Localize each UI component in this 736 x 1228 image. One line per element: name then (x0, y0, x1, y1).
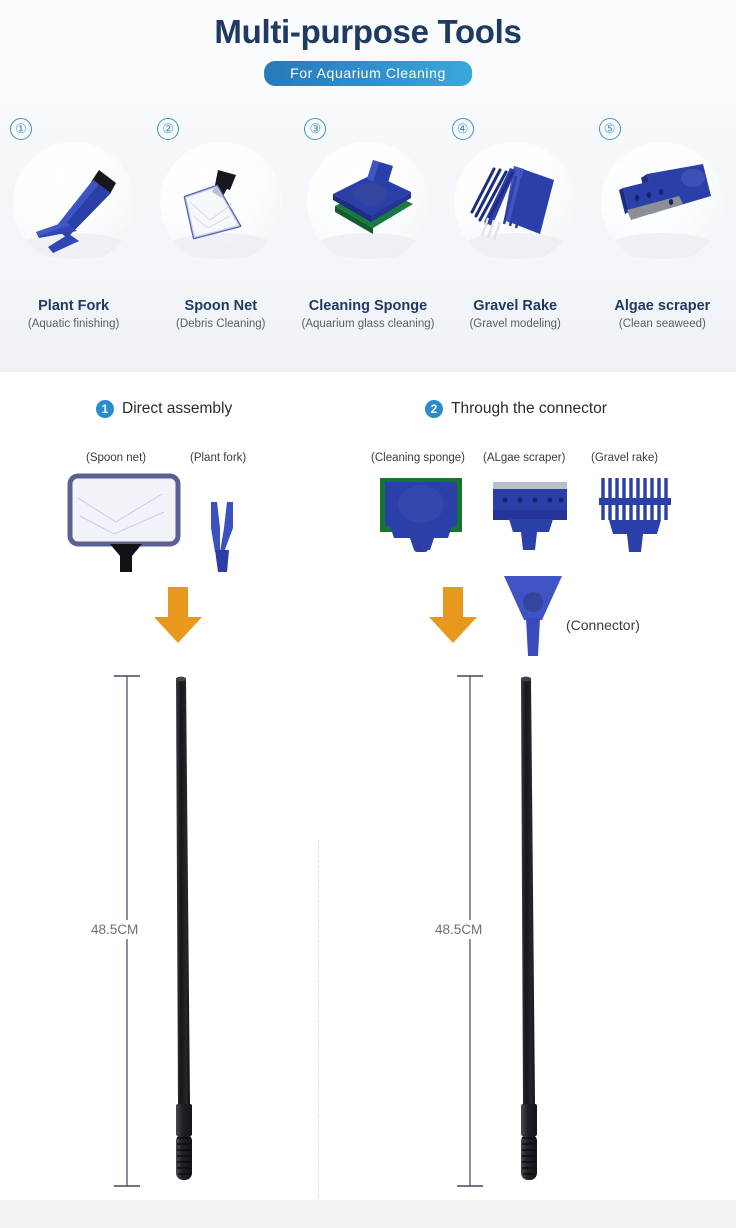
tool-name-plant-fork: Plant Fork (0, 298, 147, 314)
tool-sub-plant-fork: (Aquatic finishing) (0, 318, 147, 330)
product-infographic: Multi-purpose Tools For Aquarium Cleanin… (0, 0, 736, 1228)
part-art-connector (500, 572, 566, 660)
rod-left (170, 674, 196, 1186)
tool-grid: ① Plant Fork (Aquatic finishing) (0, 118, 736, 348)
tool-name-gravel-rake: Gravel Rake (442, 298, 589, 314)
arrow-down-right (427, 587, 479, 643)
part-label-algae-scraper: (ALgae scraper) (483, 452, 565, 464)
section-badge-2: 2 (425, 400, 443, 418)
section-heading-direct-assembly: 1 Direct assembly (96, 400, 232, 418)
section-heading-through-connector: 2 Through the connector (425, 400, 607, 418)
page-title: Multi-purpose Tools (0, 13, 736, 51)
section-title-1: Direct assembly (122, 400, 232, 418)
section-divider (318, 840, 319, 1228)
header-section: Multi-purpose Tools For Aquarium Cleanin… (0, 0, 736, 372)
tool-name-cleaning-sponge: Cleaning Sponge (294, 298, 441, 314)
part-art-algae-scraper-head (491, 480, 569, 554)
tool-photo-gravel-rake (454, 142, 576, 264)
connector-label: (Connector) (566, 617, 640, 633)
arrow-down-left (152, 587, 204, 643)
rod-right (515, 674, 541, 1186)
tool-card-spoon-net: ② S (147, 118, 294, 348)
tool-card-algae-scraper: ⑤ (589, 118, 736, 348)
dimension-label-right: 48.5CM (432, 920, 485, 939)
section-badge-1: 1 (96, 400, 114, 418)
part-label-plant-fork: (Plant fork) (190, 452, 246, 464)
tool-number-4: ④ (452, 118, 474, 140)
tool-sub-gravel-rake: (Gravel modeling) (442, 318, 589, 330)
part-art-spoon-net (66, 472, 186, 572)
tool-photo-plant-fork (13, 142, 135, 264)
part-label-cleaning-sponge: (Cleaning sponge) (371, 452, 465, 464)
tool-sub-cleaning-sponge: (Aquarium glass cleaning) (294, 318, 441, 330)
assembly-section: 1 Direct assembly (Spoon net) (Plant for… (0, 372, 736, 1200)
part-art-gravel-rake-head (597, 476, 673, 554)
tool-sub-algae-scraper: (Clean seaweed) (589, 318, 736, 330)
part-label-gravel-rake: (Gravel rake) (591, 452, 658, 464)
tool-photo-algae-scraper (601, 142, 723, 264)
tool-card-gravel-rake: ④ (442, 118, 589, 348)
tool-name-spoon-net: Spoon Net (147, 298, 294, 314)
footer-band (0, 1200, 736, 1228)
subtitle-badge: For Aquarium Cleaning (264, 61, 472, 86)
dimension-label-left: 48.5CM (88, 920, 141, 939)
tool-photo-spoon-net (160, 142, 282, 264)
tool-card-plant-fork: ① Plant Fork (Aquatic finishing) (0, 118, 147, 348)
tool-number-5: ⑤ (599, 118, 621, 140)
section-title-2: Through the connector (451, 400, 607, 418)
tool-name-algae-scraper: Algae scraper (589, 298, 736, 314)
tool-card-cleaning-sponge: ③ Cleaning Sponge (Aquarium (294, 118, 441, 348)
part-art-cleaning-sponge-head (378, 476, 464, 554)
tool-photo-cleaning-sponge (307, 142, 429, 264)
tool-sub-spoon-net: (Debris Cleaning) (147, 318, 294, 330)
tool-number-1: ① (10, 118, 32, 140)
part-label-spoon-net: (Spoon net) (86, 452, 146, 464)
tool-number-3: ③ (304, 118, 326, 140)
part-art-plant-fork (207, 502, 237, 574)
tool-number-2: ② (157, 118, 179, 140)
